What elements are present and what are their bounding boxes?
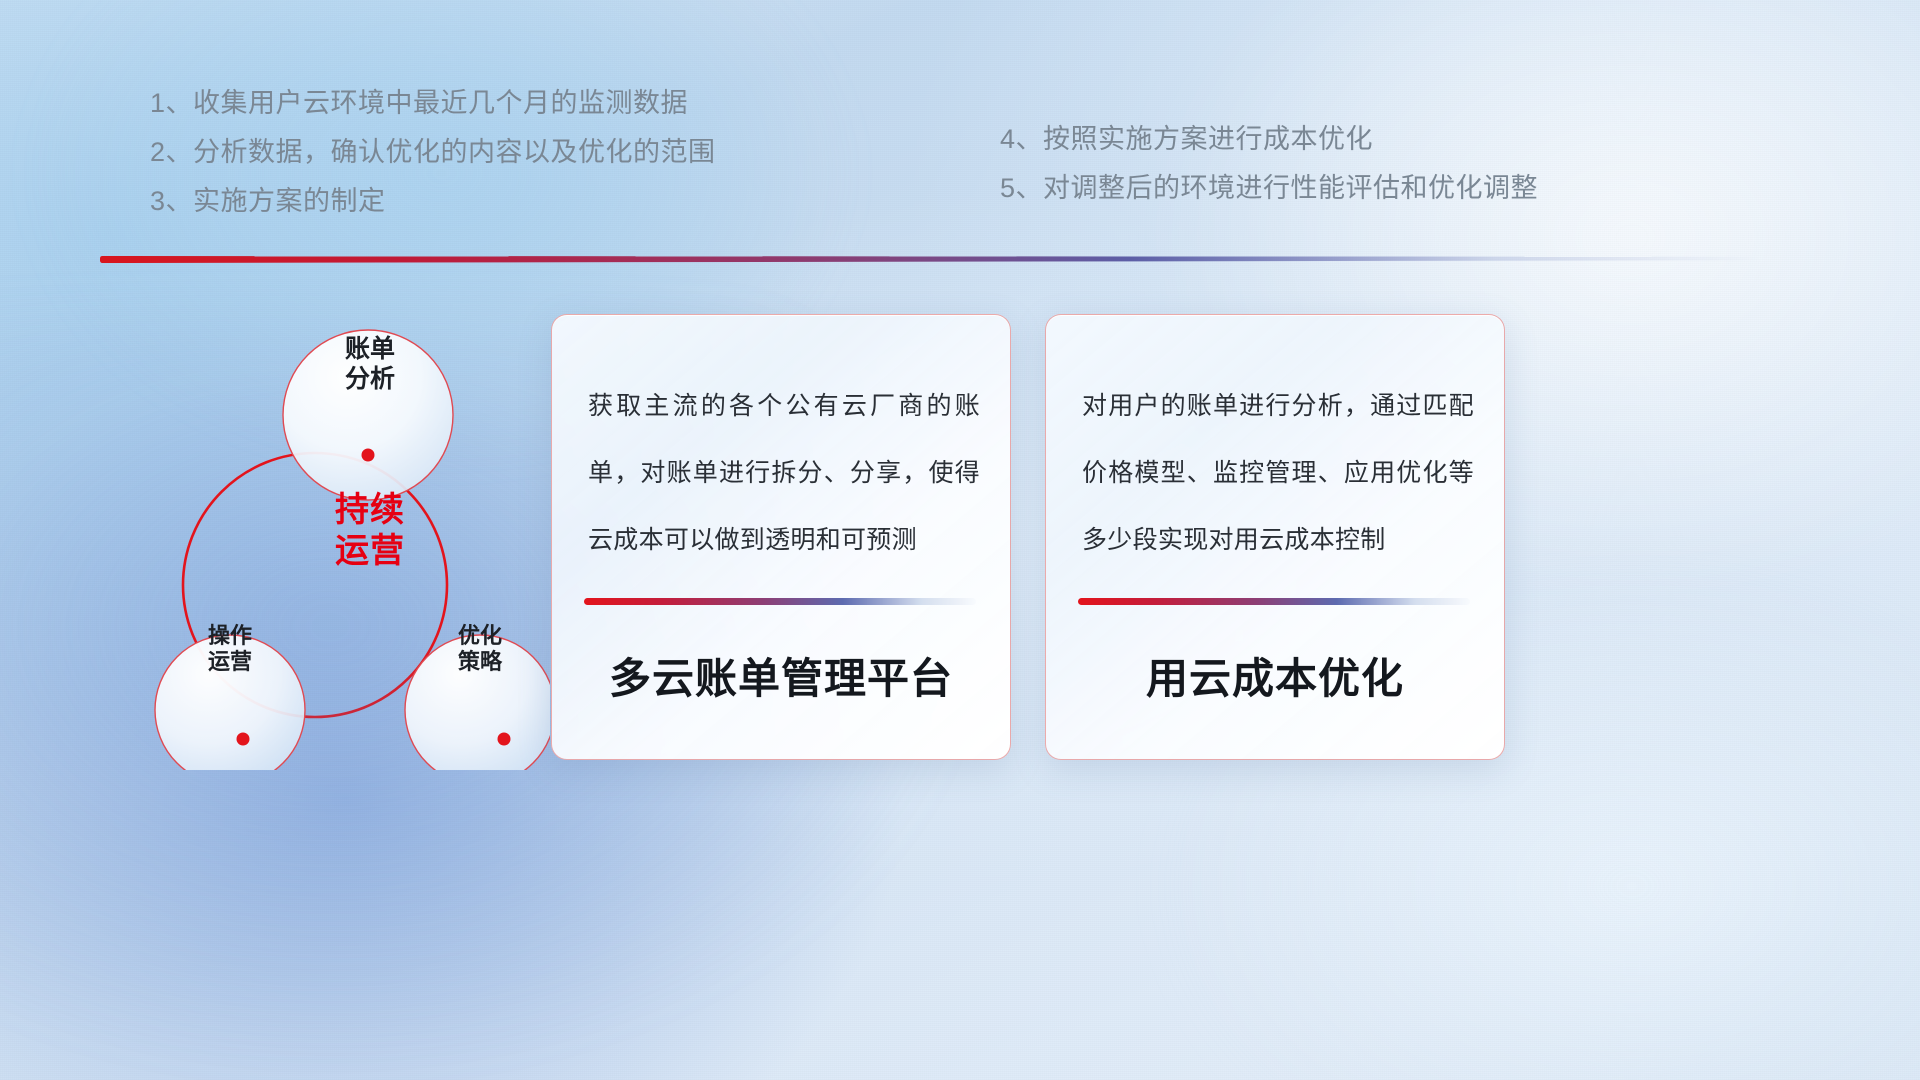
card-title: 多云账单管理平台 [552, 645, 1010, 706]
connector-dot-right [498, 733, 511, 746]
process-steps-left-column: 1、收集用户云环境中最近几个月的监测数据 2、分析数据，确认优化的内容以及优化的… [150, 90, 716, 237]
continuous-operations-diagram: 账单 分析 操作 运营 优化 策略 持续 运营 [80, 290, 550, 770]
card-accent-rule [1078, 598, 1470, 605]
bubble-bill-analysis [283, 330, 453, 500]
card-accent-rule [584, 598, 976, 605]
card-body-text: 获取主流的各个公有云厂商的账单，对账单进行拆分、分享，使得云成本可以做到透明和可… [588, 373, 980, 574]
bubble-operations [155, 635, 305, 770]
process-step-2: 2、分析数据，确认优化的内容以及优化的范围 [150, 139, 716, 166]
venn-diagram-svg [80, 290, 550, 770]
connector-dot-left [237, 733, 250, 746]
process-step-4: 4、按照实施方案进行成本优化 [1000, 126, 1538, 153]
card-cloud-cost-optimization[interactable]: 对用户的账单进行分析，通过匹配价格模型、监控管理、应用优化等多少段实现对用云成本… [1045, 314, 1505, 760]
process-step-3: 3、实施方案的制定 [150, 188, 716, 215]
process-step-1: 1、收集用户云环境中最近几个月的监测数据 [150, 90, 716, 117]
card-body-text: 对用户的账单进行分析，通过匹配价格模型、监控管理、应用优化等多少段实现对用云成本… [1082, 373, 1474, 574]
process-step-5: 5、对调整后的环境进行性能评估和优化调整 [1000, 175, 1538, 202]
process-steps-list: 1、收集用户云环境中最近几个月的监测数据 2、分析数据，确认优化的内容以及优化的… [0, 90, 1920, 250]
card-multi-cloud-billing[interactable]: 获取主流的各个公有云厂商的账单，对账单进行拆分、分享，使得云成本可以做到透明和可… [551, 314, 1011, 760]
connector-dot-top [362, 449, 375, 462]
card-title: 用云成本优化 [1046, 645, 1504, 706]
process-steps-right-column: 4、按照实施方案进行成本优化 5、对调整后的环境进行性能评估和优化调整 [1000, 126, 1538, 224]
